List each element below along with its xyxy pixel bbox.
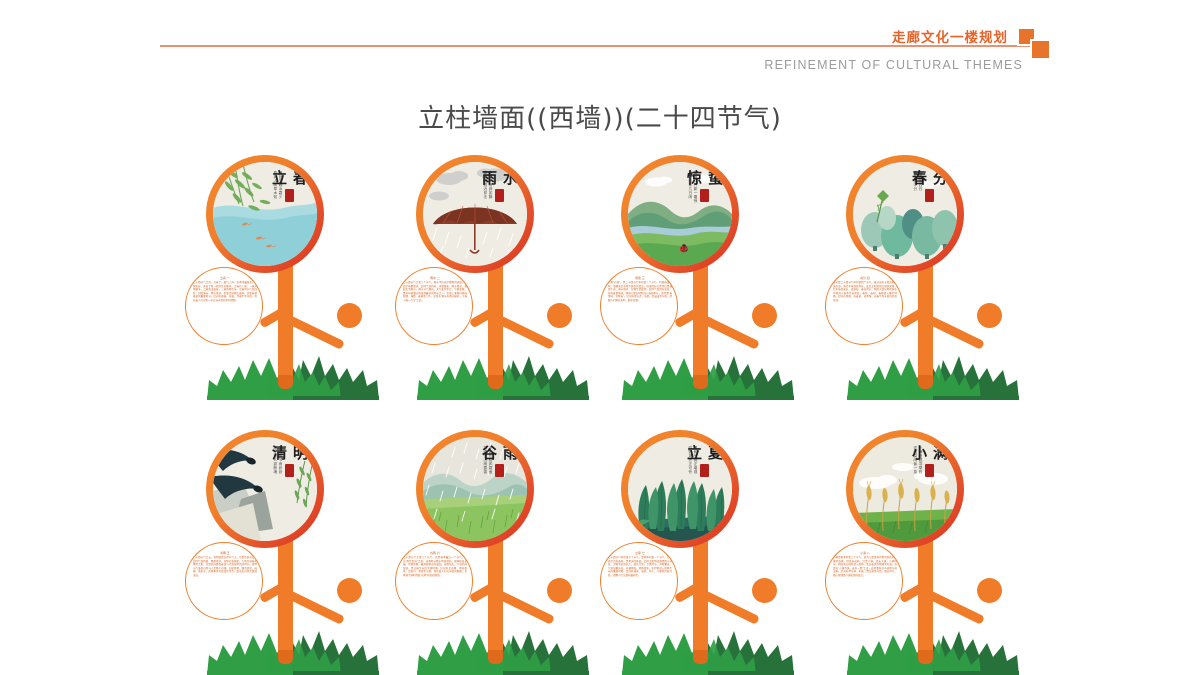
- signboard-face: 小满田塍寻草药 农闲莫闲偷一息小满: [853, 437, 957, 541]
- description-text: 春分·四春分是二十四节气中的第四个节气。春分这天太阳直射地球赤道，南北半球昼夜等…: [833, 276, 897, 338]
- signboard-unit-立春[interactable]: 律回岁晚冰霜少 春到人间草木知立春立春·一二十四节气之首，立春了，阳气上升，冬季…: [185, 155, 400, 400]
- term-char-2: 蛰: [708, 169, 723, 187]
- description-title: 谷雨·六: [403, 551, 467, 555]
- solar-term-signboard-grid: 律回岁晚冰霜少 春到人间草木知立春立春·一二十四节气之首，立春了，阳气上升，冬季…: [0, 155, 1200, 675]
- signboard-ring[interactable]: 微雨众卉新一雷惊 蛰始田家几日闲惊蛰: [621, 155, 739, 273]
- signboard-ring[interactable]: 小满田塍寻草药 农闲莫闲偷一息小满: [846, 430, 964, 548]
- description-title: 惊蛰·三: [608, 276, 672, 280]
- signboard-ring[interactable]: 清和气爽正堪观 四野风光正可怜立夏: [621, 430, 739, 548]
- description-title: 春分·四: [833, 276, 897, 280]
- grass-base: [417, 350, 589, 400]
- signboard-ring[interactable]: 清明时节雨纷纷 路上行人欲断魂清明: [206, 430, 324, 548]
- signboard-face: 律回岁晚冰霜少 春到人间草木知立春: [213, 162, 317, 266]
- post-base-cap: [693, 650, 708, 664]
- signboard-term-label: 春分: [912, 170, 948, 202]
- signboard-face: 清和气爽正堪观 四野风光正可怜立夏: [628, 437, 732, 541]
- signboard-unit-立夏[interactable]: 清和气爽正堪观 四野风光正可怜立夏立夏·七二十四节气中的第七个节气，是夏季的第一…: [600, 430, 815, 675]
- header-subtitle: REFINEMENT OF CULTURAL THEMES: [764, 58, 1023, 72]
- signboard-face: 微雨众卉新一雷惊 蛰始田家几日闲惊蛰: [628, 162, 732, 266]
- post-branch-right: [702, 315, 760, 349]
- term-char-1: 小: [912, 444, 927, 462]
- term-char-2: 雨: [503, 444, 518, 462]
- signboard-term-label: 谷雨: [482, 445, 518, 477]
- post-base-cap: [693, 375, 708, 389]
- term-char-1: 惊: [687, 169, 702, 187]
- term-char-1: 立: [687, 444, 702, 462]
- header-square-decor-2: [1032, 41, 1049, 58]
- grass-base: [847, 625, 1019, 675]
- grass-base: [207, 350, 379, 400]
- signboard-unit-雨水[interactable]: 天街小雨润如酥 草色遥看近却无雨水雨水·二二十四节气之第二个节气，雨水不仅表示降…: [395, 155, 610, 400]
- signboard-face: 仲春初四日 春色正中分春分: [853, 162, 957, 266]
- seal-stamp-icon: [495, 189, 504, 202]
- description-text: 雨水·二二十四节气之第二个节气，雨水不仅表示降雨的开始，也表示雨量增多。此时气温…: [403, 276, 467, 338]
- term-char-2: 满: [933, 444, 948, 462]
- description-text: 立夏·七二十四节气中的第七个节气，是夏季的第一个节气。立夏表示告别春天，是夏天的…: [608, 551, 672, 613]
- slide-title: 立柱墙面((西墙))(二十四节气): [0, 98, 1200, 135]
- description-bubble[interactable]: 雨水·二二十四节气之第二个节气，雨水不仅表示降雨的开始，也表示雨量增多。此时气温…: [395, 267, 473, 345]
- term-char-1: 雨: [482, 169, 497, 187]
- description-text: 谷雨·六二十四节气之第六个节气，也是春季最后一个节气，源自“雨生百谷”之意。谷雨…: [403, 551, 467, 613]
- header-title: 走廊文化一楼规划: [892, 26, 1008, 46]
- seal-stamp-icon: [495, 464, 504, 477]
- post-branch-ball: [337, 578, 362, 603]
- term-char-1: 谷: [482, 444, 497, 462]
- post-branch-ball: [547, 303, 572, 328]
- signboard-term-label: 立夏: [687, 445, 723, 477]
- signboard-face: 清明时节雨纷纷 路上行人欲断魂清明: [213, 437, 317, 541]
- post-base-cap: [278, 650, 293, 664]
- signboard-ring[interactable]: 仲春初四日 春色正中分春分: [846, 155, 964, 273]
- term-char-2: 夏: [708, 444, 723, 462]
- seal-stamp-icon: [700, 464, 709, 477]
- grass-base: [847, 350, 1019, 400]
- description-bubble[interactable]: 立春·一二十四节气之首，立春了，阳气上升，冬季闭藏结束，万物复苏，开启了新一轮的…: [185, 267, 263, 345]
- post-branch-ball: [547, 578, 572, 603]
- signboard-ring[interactable]: 不妨长桧风霜面 赢得空山雨露香谷雨: [416, 430, 534, 548]
- term-char-2: 明: [293, 444, 308, 462]
- description-title: 立夏·七: [608, 551, 672, 555]
- post-base-cap: [918, 650, 933, 664]
- signboard-unit-谷雨[interactable]: 不妨长桧风霜面 赢得空山雨露香谷雨谷雨·六二十四节气之第六个节气，也是春季最后一…: [395, 430, 610, 675]
- post-branch-right: [497, 590, 555, 624]
- description-bubble[interactable]: 立夏·七二十四节气中的第七个节气，是夏季的第一个节气。立夏表示告别春天，是夏天的…: [600, 542, 678, 620]
- description-title: 清明·五: [193, 551, 257, 555]
- term-char-2: 春: [293, 169, 308, 187]
- post-branch-right: [287, 590, 345, 624]
- signboard-face: 天街小雨润如酥 草色遥看近却无雨水: [423, 162, 527, 266]
- term-char-2: 分: [933, 169, 948, 187]
- post-base-cap: [488, 650, 503, 664]
- signboard-ring[interactable]: 天街小雨润如酥 草色遥看近却无雨水: [416, 155, 534, 273]
- signboard-term-label: 惊蛰: [687, 170, 723, 202]
- description-text: 小满·八小满是夏季的第二个节气，其含义是夏熟作物的籽粒开始灌浆饱满，但还未成熟，…: [833, 551, 897, 613]
- seal-stamp-icon: [285, 464, 294, 477]
- term-char-1: 立: [272, 169, 287, 187]
- post-branch-ball: [977, 578, 1002, 603]
- signboard-term-label: 雨水: [482, 170, 518, 202]
- post-base-cap: [918, 375, 933, 389]
- description-bubble[interactable]: 惊蛰·三古称“启蛰”，是二十四节气中的第三个节气。时值春雷始鸣，惊醒蛰伏于地下越…: [600, 267, 678, 345]
- post-base-cap: [488, 375, 503, 389]
- grass-base: [417, 625, 589, 675]
- grass-base: [207, 625, 379, 675]
- description-title: 小满·八: [833, 551, 897, 555]
- signboard-unit-清明[interactable]: 清明时节雨纷纷 路上行人欲断魂清明清明·五二十四节气之五，清明既是自然节气点，也…: [185, 430, 400, 675]
- post-base-cap: [278, 375, 293, 389]
- post-branch-right: [287, 315, 345, 349]
- post-branch-ball: [752, 303, 777, 328]
- signboard-ring[interactable]: 律回岁晚冰霜少 春到人间草木知立春: [206, 155, 324, 273]
- description-text: 惊蛰·三古称“启蛰”，是二十四节气中的第三个节气。时值春雷始鸣，惊醒蛰伏于地下越…: [608, 276, 672, 338]
- post-branch-right: [927, 590, 985, 624]
- grass-base: [622, 625, 794, 675]
- seal-stamp-icon: [925, 189, 934, 202]
- description-bubble[interactable]: 谷雨·六二十四节气之第六个节气，也是春季最后一个节气，源自“雨生百谷”之意。谷雨…: [395, 542, 473, 620]
- grass-base: [622, 350, 794, 400]
- term-char-2: 水: [503, 169, 518, 187]
- post-branch-right: [702, 590, 760, 624]
- post-branch-right: [497, 315, 555, 349]
- signboard-unit-小满[interactable]: 小满田塍寻草药 农闲莫闲偷一息小满小满·八小满是夏季的第二个节气，其含义是夏熟作…: [825, 430, 1040, 675]
- description-text: 清明·五二十四节气之五，清明既是自然节气点，也是传统节日。此时气温转暖，降雨增多…: [193, 551, 257, 613]
- description-bubble[interactable]: 小满·八小满是夏季的第二个节气，其含义是夏熟作物的籽粒开始灌浆饱满，但还未成熟，…: [825, 542, 903, 620]
- description-bubble[interactable]: 春分·四春分是二十四节气中的第四个节气。春分这天太阳直射地球赤道，南北半球昼夜等…: [825, 267, 903, 345]
- description-text: 立春·一二十四节气之首，立春了，阳气上升，冬季闭藏结束，万物复苏，开启了新一轮的…: [193, 276, 257, 338]
- seal-stamp-icon: [700, 189, 709, 202]
- post-branch-ball: [337, 303, 362, 328]
- page-header: 走廊文化一楼规划 REFINEMENT OF CULTURAL THEMES: [0, 0, 1200, 86]
- description-bubble[interactable]: 清明·五二十四节气之五，清明既是自然节气点，也是传统节日。此时气温转暖，降雨增多…: [185, 542, 263, 620]
- seal-stamp-icon: [285, 189, 294, 202]
- post-branch-right: [927, 315, 985, 349]
- signboard-face: 不妨长桧风霜面 赢得空山雨露香谷雨: [423, 437, 527, 541]
- signboard-unit-春分[interactable]: 仲春初四日 春色正中分春分春分·四春分是二十四节气中的第四个节气。春分这天太阳直…: [825, 155, 1040, 400]
- signboard-term-label: 清明: [272, 445, 308, 477]
- description-title: 立春·一: [193, 276, 257, 280]
- description-title: 雨水·二: [403, 276, 467, 280]
- post-branch-ball: [752, 578, 777, 603]
- term-char-1: 清: [272, 444, 287, 462]
- post-branch-ball: [977, 303, 1002, 328]
- seal-stamp-icon: [925, 464, 934, 477]
- term-char-1: 春: [912, 169, 927, 187]
- signboard-unit-惊蛰[interactable]: 微雨众卉新一雷惊 蛰始田家几日闲惊蛰惊蛰·三古称“启蛰”，是二十四节气中的第三个…: [600, 155, 815, 400]
- signboard-term-label: 小满: [912, 445, 948, 477]
- signboard-term-label: 立春: [272, 170, 308, 202]
